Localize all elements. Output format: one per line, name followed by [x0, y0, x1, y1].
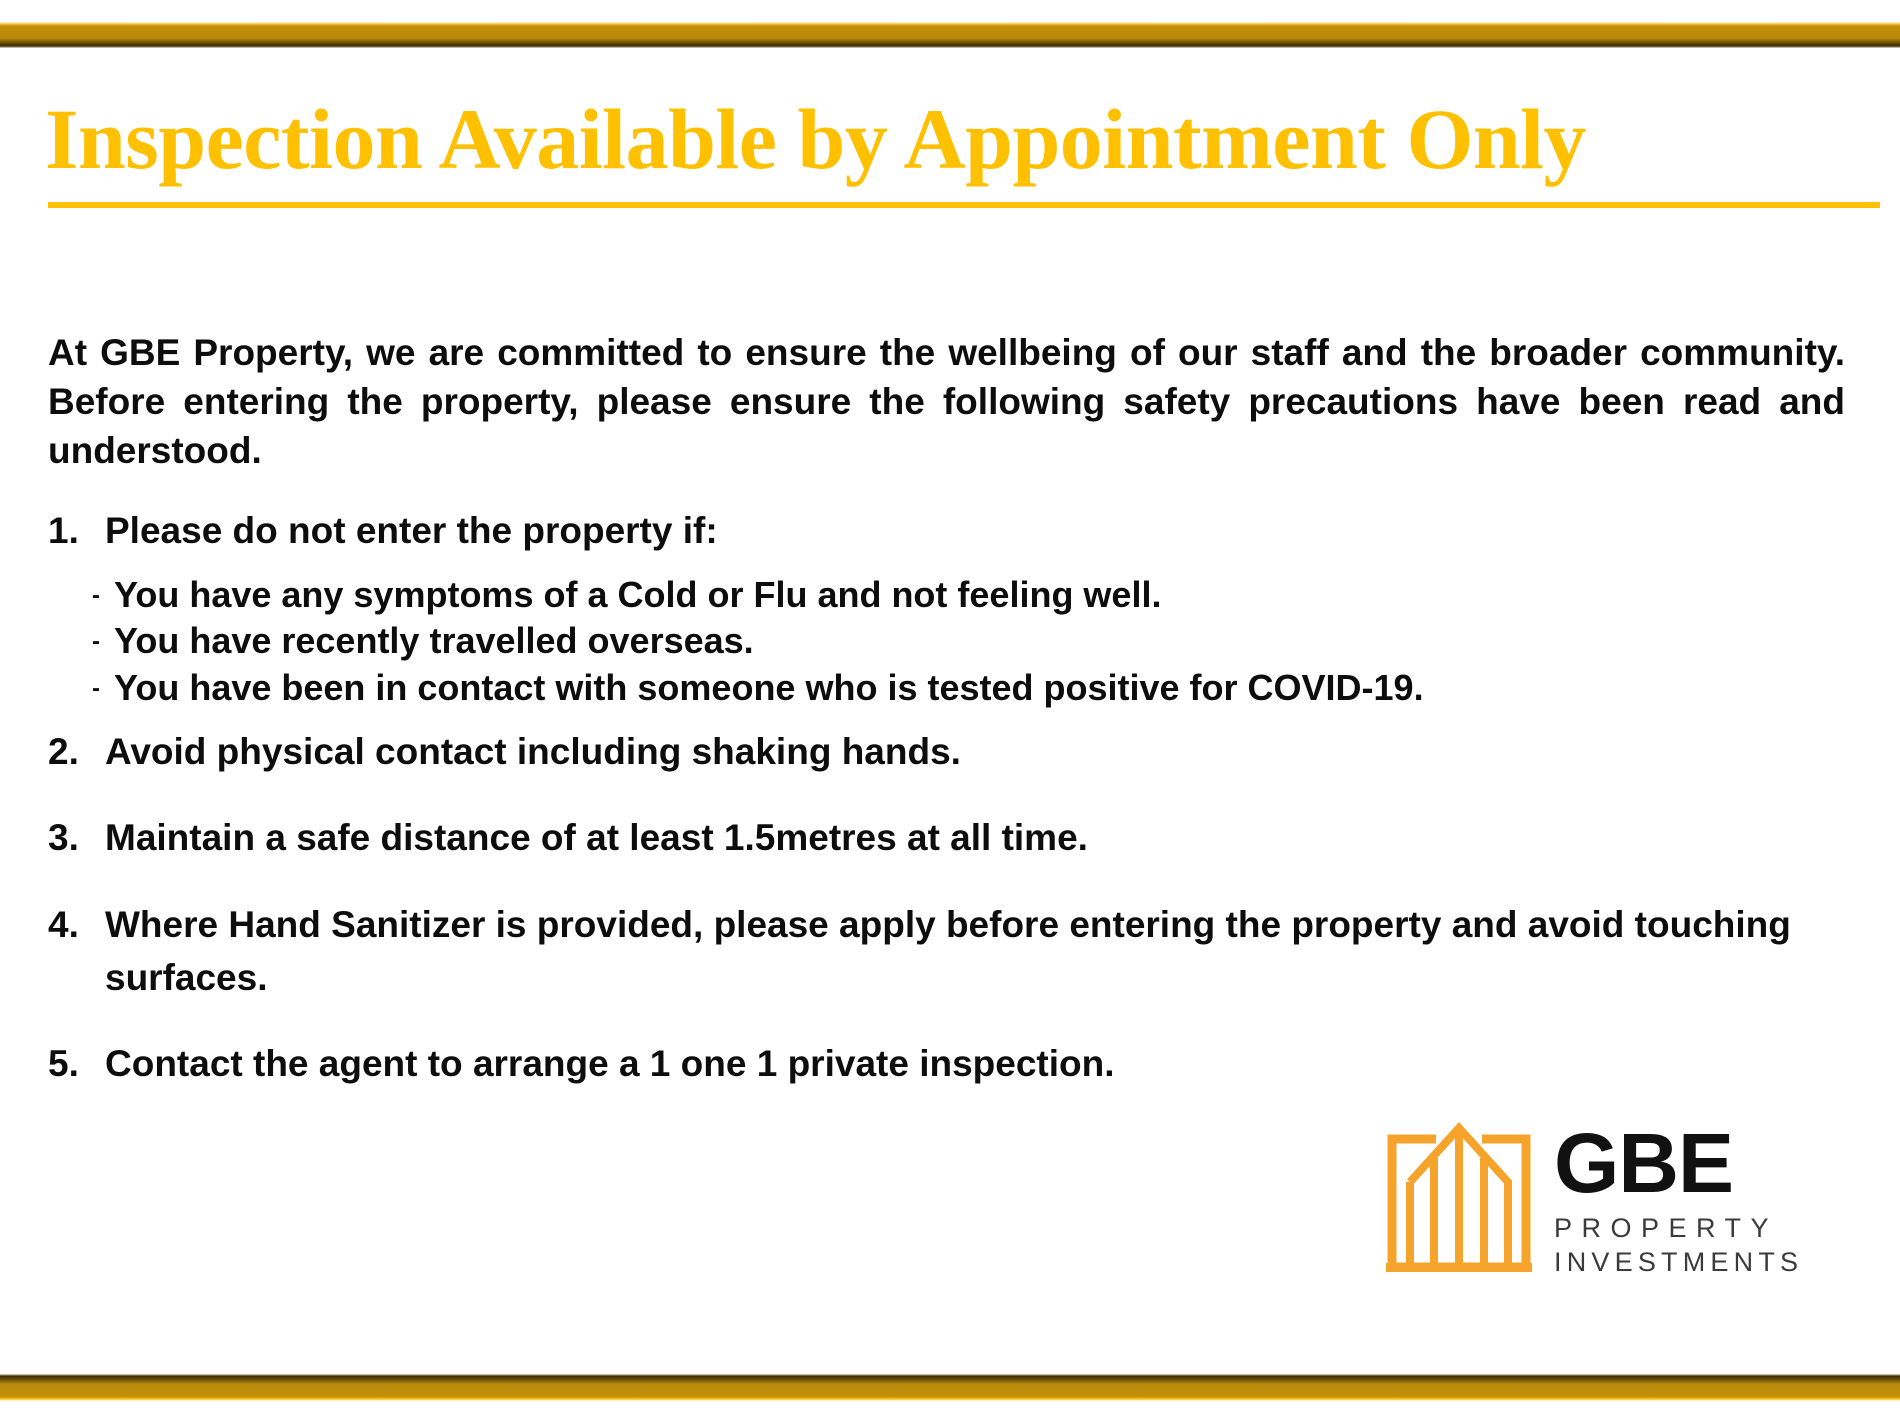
sub-bullet-list: - You have any symptoms of a Cold or Flu…: [92, 572, 1848, 712]
sub-list-item: - You have any symptoms of a Cold or Flu…: [92, 572, 1848, 619]
list-item: 4. Where Hand Sanitizer is provided, ple…: [48, 899, 1848, 1004]
logo-wordmark: GBE PROPERTY INVESTMENTS: [1554, 1122, 1803, 1276]
page-title: Inspection Available by Appointment Only: [45, 96, 1885, 184]
list-item-text: Where Hand Sanitizer is provided, please…: [105, 899, 1848, 1004]
list-item-text: Contact the agent to arrange a 1 one 1 p…: [105, 1038, 1848, 1091]
list-item: 3. Maintain a safe distance of at least …: [48, 812, 1848, 865]
dash-marker-icon: -: [92, 630, 114, 654]
spacer: [48, 778, 1848, 812]
slide-canvas: Inspection Available by Appointment Only…: [0, 0, 1900, 1425]
sub-list-item: - You have recently travelled overseas.: [92, 618, 1848, 665]
page-title-container: Inspection Available by Appointment Only: [45, 96, 1885, 184]
spacer: [48, 865, 1848, 899]
list-item-number: 5.: [48, 1038, 105, 1091]
sub-list-item-text: You have recently travelled overseas.: [114, 618, 1848, 665]
bottom-gold-rule: [0, 1374, 1900, 1401]
building-outline-icon: [1386, 1122, 1532, 1272]
list-item: 5. Contact the agent to arrange a 1 one …: [48, 1038, 1848, 1091]
list-item-text: Please do not enter the property if:: [105, 505, 1848, 558]
logo-brand-name: GBE: [1554, 1124, 1803, 1204]
logo-tagline-property: PROPERTY: [1554, 1214, 1803, 1242]
list-item-number: 1.: [48, 505, 105, 558]
top-gold-rule: [0, 22, 1900, 48]
logo-tagline-investments: INVESTMENTS: [1554, 1248, 1803, 1276]
spacer: [48, 1004, 1848, 1038]
list-item: 1. Please do not enter the property if:: [48, 505, 1848, 558]
sub-list-item: - You have been in contact with someone …: [92, 665, 1848, 712]
list-item-number: 4.: [48, 899, 105, 952]
intro-paragraph: At GBE Property, we are committed to ens…: [48, 328, 1845, 476]
list-item: 2. Avoid physical contact including shak…: [48, 726, 1848, 779]
gbe-logo: GBE PROPERTY INVESTMENTS: [1386, 1122, 1846, 1274]
sub-list-item-text: You have been in contact with someone wh…: [114, 665, 1848, 712]
spacer: [48, 718, 1848, 726]
list-item-text: Maintain a safe distance of at least 1.5…: [105, 812, 1848, 865]
dash-marker-icon: -: [92, 584, 114, 608]
title-underline: [48, 202, 1880, 208]
dash-marker-icon: -: [92, 677, 114, 701]
list-item-text: Avoid physical contact including shaking…: [105, 726, 1848, 779]
sub-list-item-text: You have any symptoms of a Cold or Flu a…: [114, 572, 1848, 619]
list-item-number: 3.: [48, 812, 105, 865]
list-item-number: 2.: [48, 726, 105, 779]
safety-steps-list: 1. Please do not enter the property if: …: [48, 505, 1848, 1091]
